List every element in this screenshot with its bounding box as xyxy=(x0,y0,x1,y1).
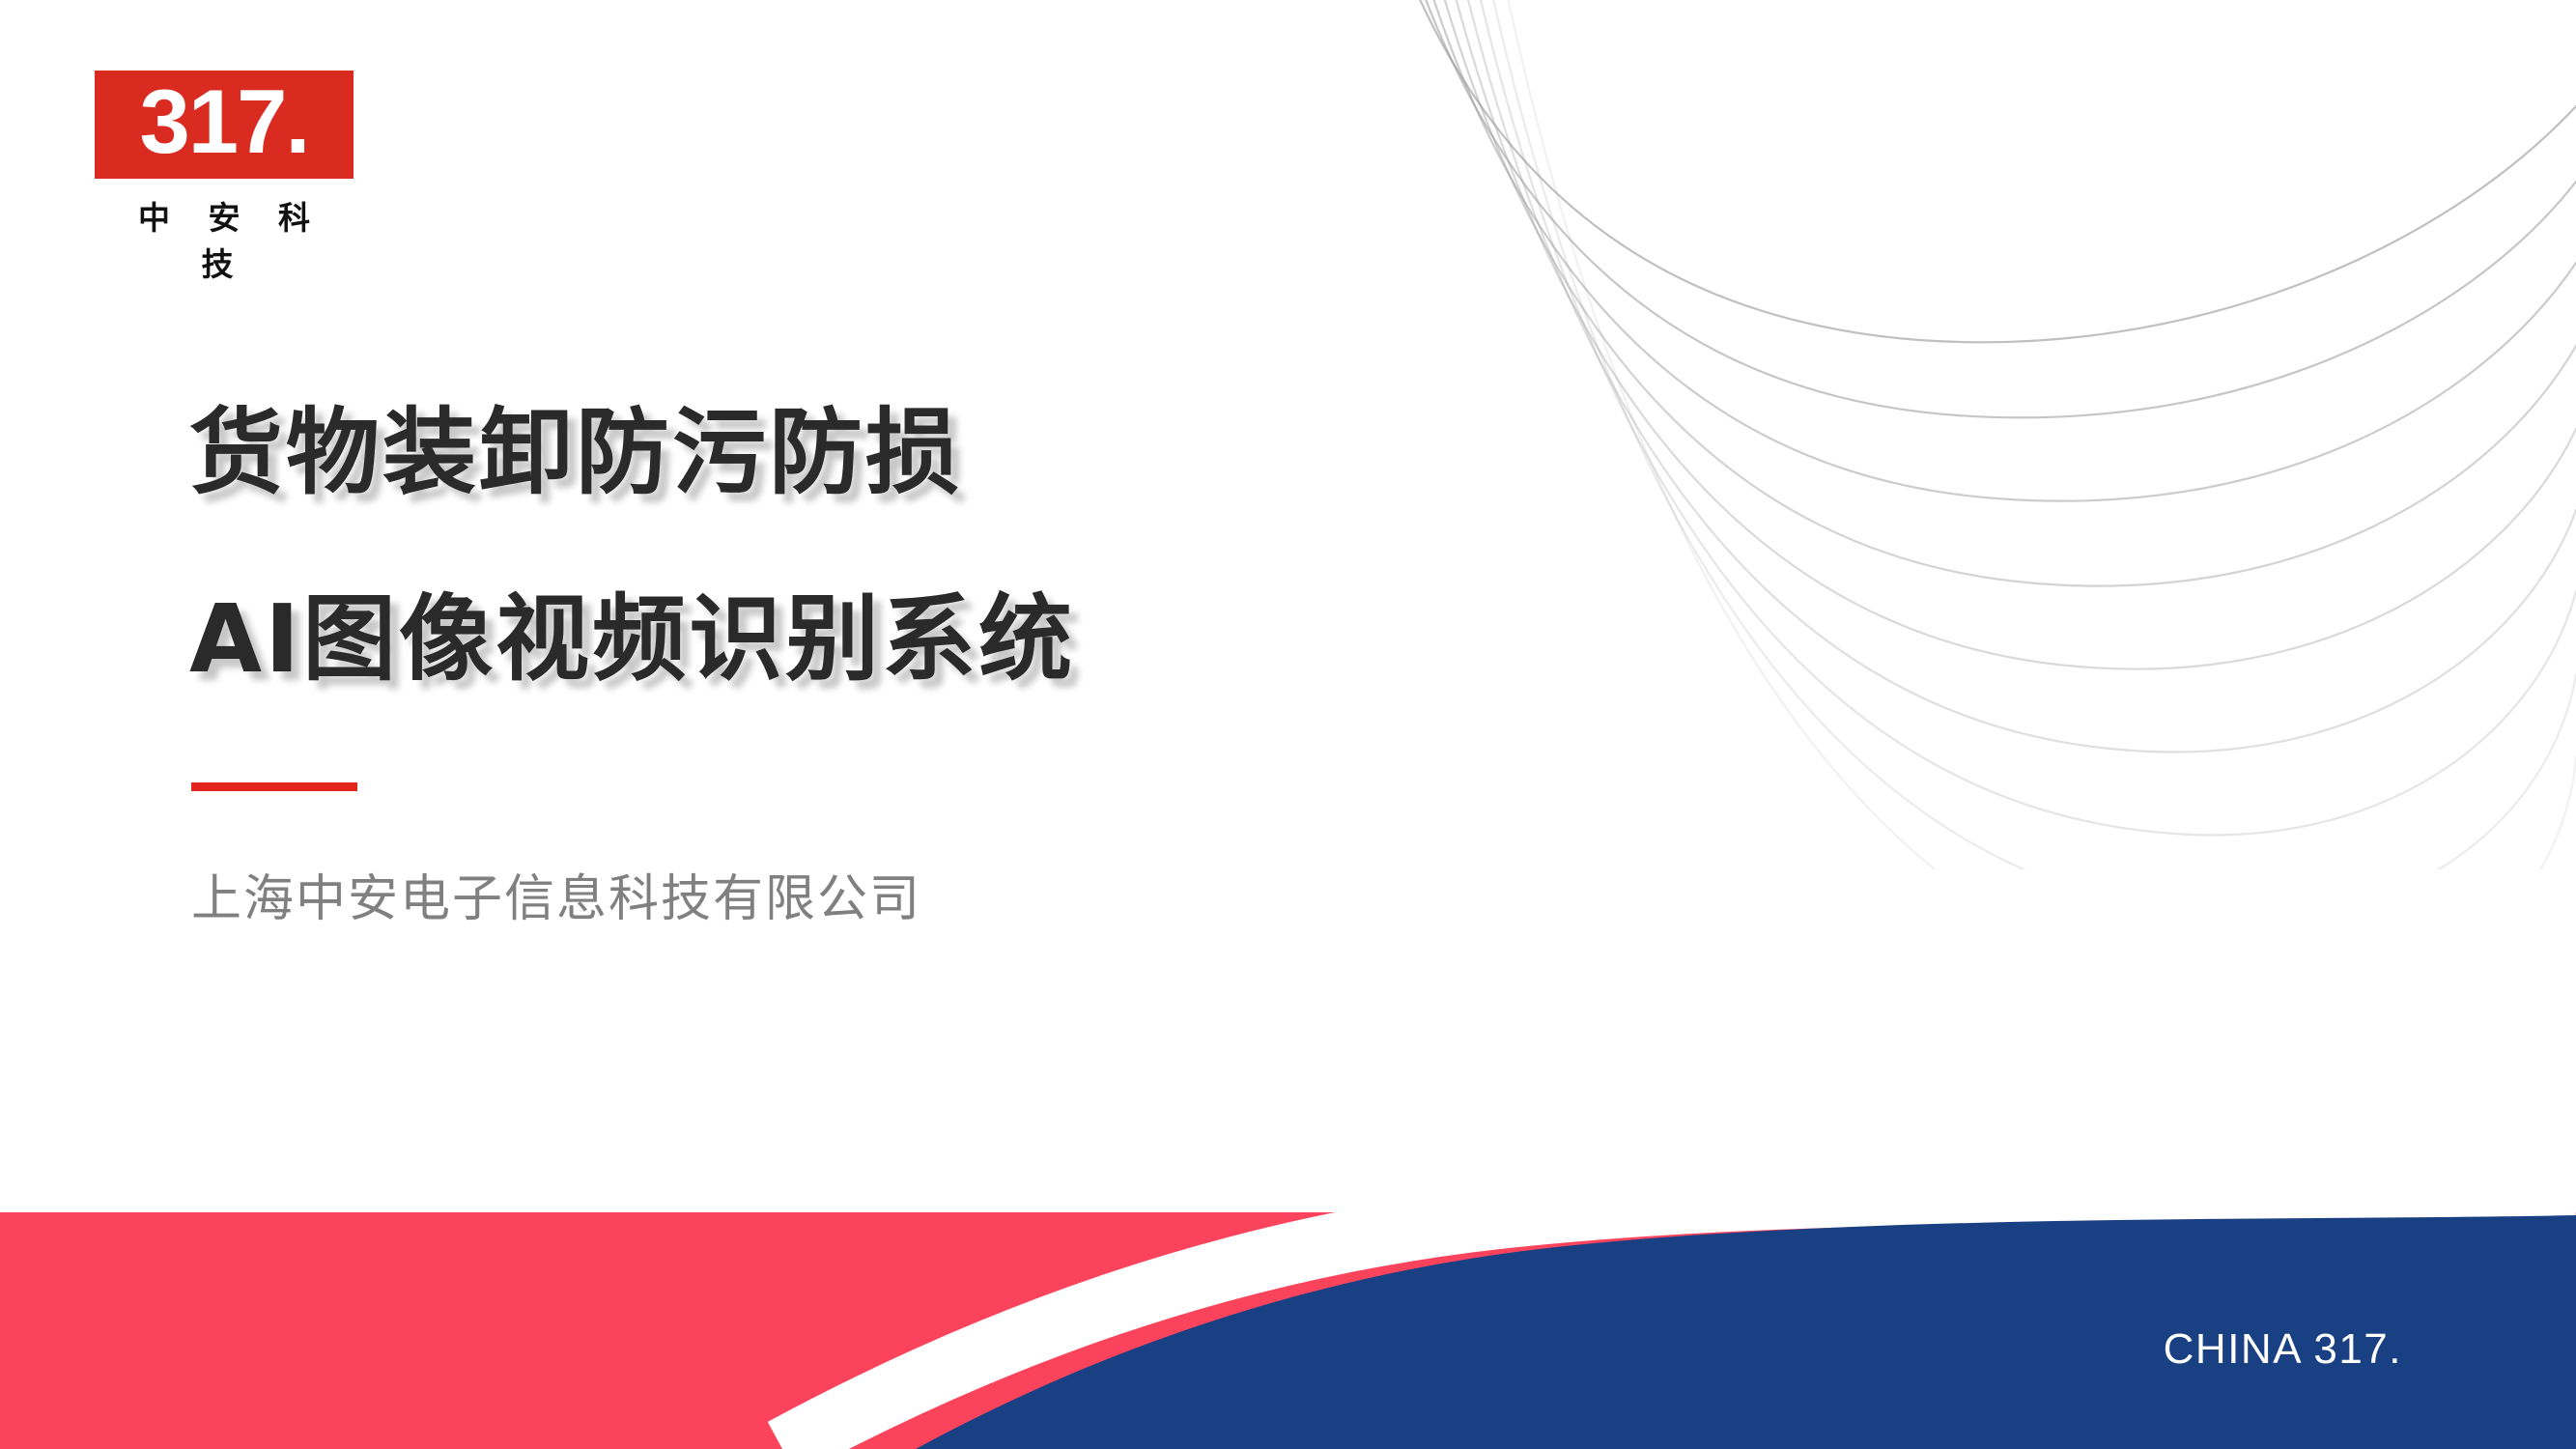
logo-badge: 317. xyxy=(95,71,354,179)
bottom-banner-shapes xyxy=(0,1200,2576,1449)
logo-company-short: 中 安 科 技 xyxy=(95,192,354,285)
page-title: 货物装卸防污防损 AI图像视频识别系统 xyxy=(189,406,1542,686)
logo-badge-text: 317. xyxy=(140,76,309,167)
subtitle-company-name: 上海中安电子信息科技有限公司 xyxy=(191,869,921,929)
slide-canvas: 317. 中 安 科 技 货物装卸防污防损 AI图像视频识别系统 上海中安电子信… xyxy=(0,0,2576,1449)
logo: 317. 中 安 科 技 xyxy=(95,71,354,285)
title-divider-rule xyxy=(191,782,357,791)
bottom-banner: CHINA 317. xyxy=(0,1200,2576,1449)
banner-caption: CHINA 317. xyxy=(2164,1325,2402,1374)
headline-line-1: 货物装卸防污防损 xyxy=(189,406,1542,499)
headline-line-2: AI图像视频识别系统 xyxy=(189,592,1542,686)
